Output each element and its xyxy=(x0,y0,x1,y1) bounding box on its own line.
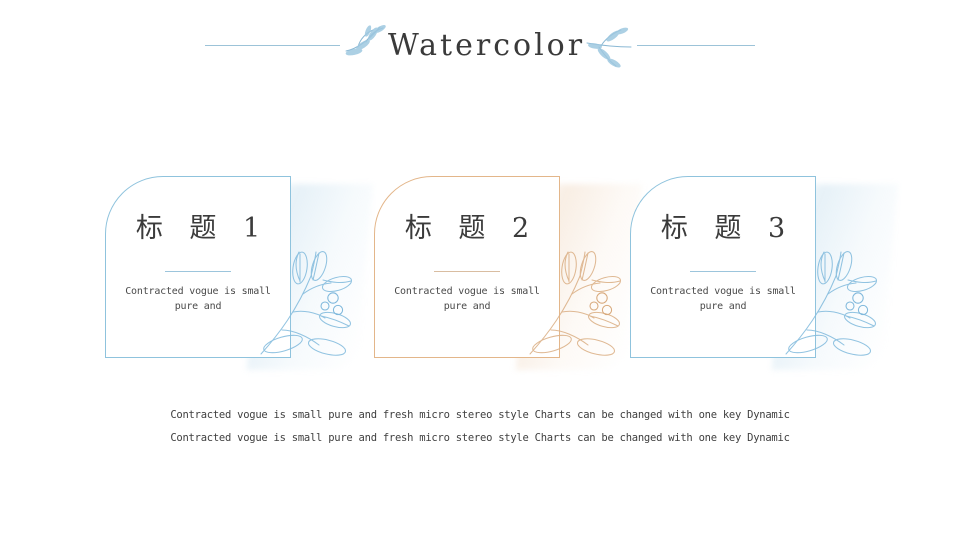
title-rule-right xyxy=(637,45,755,46)
slide-title-band: Watercolor xyxy=(0,14,960,76)
botanical-branch-icon xyxy=(253,248,357,360)
botanical-branch-icon xyxy=(778,248,882,360)
feature-card[interactable]: 标 题 2 Contracted vogue is small pure and xyxy=(374,176,588,358)
botanical-branch-icon xyxy=(522,248,626,360)
leaf-sprig-icon xyxy=(583,25,635,71)
title-rule-left xyxy=(205,45,340,46)
feature-card-row: 标 题 1 Contracted vogue is small pure and xyxy=(0,176,960,366)
footer-paragraph: Contracted vogue is small pure and fresh… xyxy=(0,404,960,450)
footer-line: Contracted vogue is small pure and fresh… xyxy=(0,404,960,427)
page-title: Watercolor xyxy=(382,28,591,63)
feature-card[interactable]: 标 题 3 Contracted vogue is small pure and xyxy=(630,176,844,358)
feature-card[interactable]: 标 题 1 Contracted vogue is small pure and xyxy=(105,176,319,358)
footer-line: Contracted vogue is small pure and fresh… xyxy=(0,427,960,450)
